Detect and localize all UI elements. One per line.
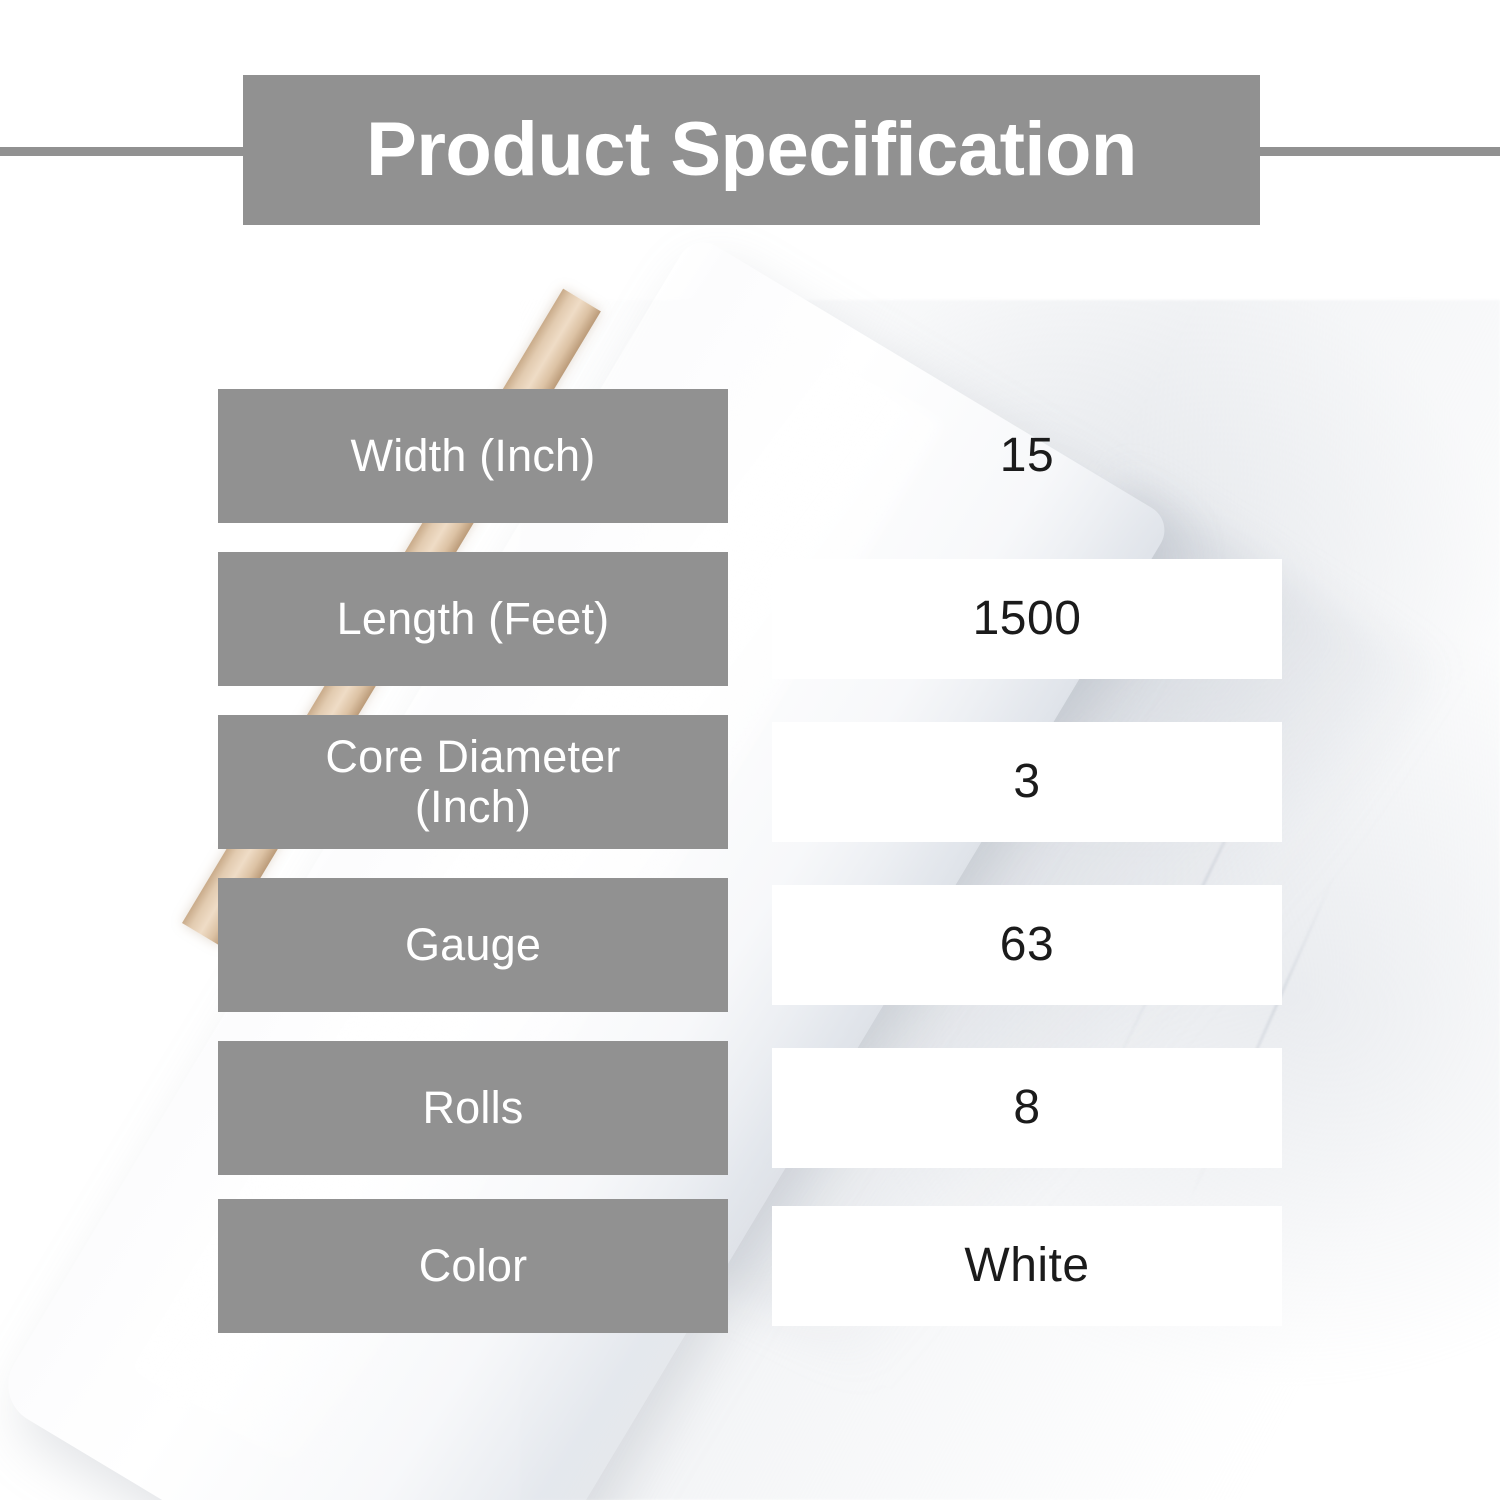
spec-label-length: Length (Feet) xyxy=(218,552,728,686)
spec-label-text: Length (Feet) xyxy=(337,594,610,644)
spec-label-rolls: Rolls xyxy=(218,1041,728,1175)
spec-label-gauge: Gauge xyxy=(218,878,728,1012)
spec-value-rolls: 8 xyxy=(772,1048,1282,1168)
spec-value-color: White xyxy=(772,1206,1282,1326)
spec-label-text: Rolls xyxy=(422,1083,523,1133)
spec-value-text: 1500 xyxy=(973,595,1082,643)
spec-table: Width (Inch) 15 Length (Feet) 1500 Core … xyxy=(0,0,1500,1500)
spec-value-text: White xyxy=(964,1242,1089,1290)
spec-value-text: 3 xyxy=(1013,758,1040,806)
spec-value-gauge: 63 xyxy=(772,885,1282,1005)
spec-label-color: Color xyxy=(218,1199,728,1333)
spec-label-core-diameter: Core Diameter(Inch) xyxy=(218,715,728,849)
spec-label-text: Gauge xyxy=(405,920,541,970)
spec-value-text: 8 xyxy=(1013,1084,1040,1132)
spec-label-text: Width (Inch) xyxy=(351,431,596,481)
spec-label-width: Width (Inch) xyxy=(218,389,728,523)
spec-value-text: 15 xyxy=(1000,432,1054,480)
spec-value-text: 63 xyxy=(1000,921,1054,969)
spec-value-width: 15 xyxy=(772,396,1282,516)
product-specification-page: Product Specification Width (Inch) 15 Le… xyxy=(0,0,1500,1500)
spec-value-length: 1500 xyxy=(772,559,1282,679)
spec-value-core-diameter: 3 xyxy=(772,722,1282,842)
spec-label-text: Core Diameter(Inch) xyxy=(325,732,620,833)
spec-label-text: Color xyxy=(419,1241,528,1291)
